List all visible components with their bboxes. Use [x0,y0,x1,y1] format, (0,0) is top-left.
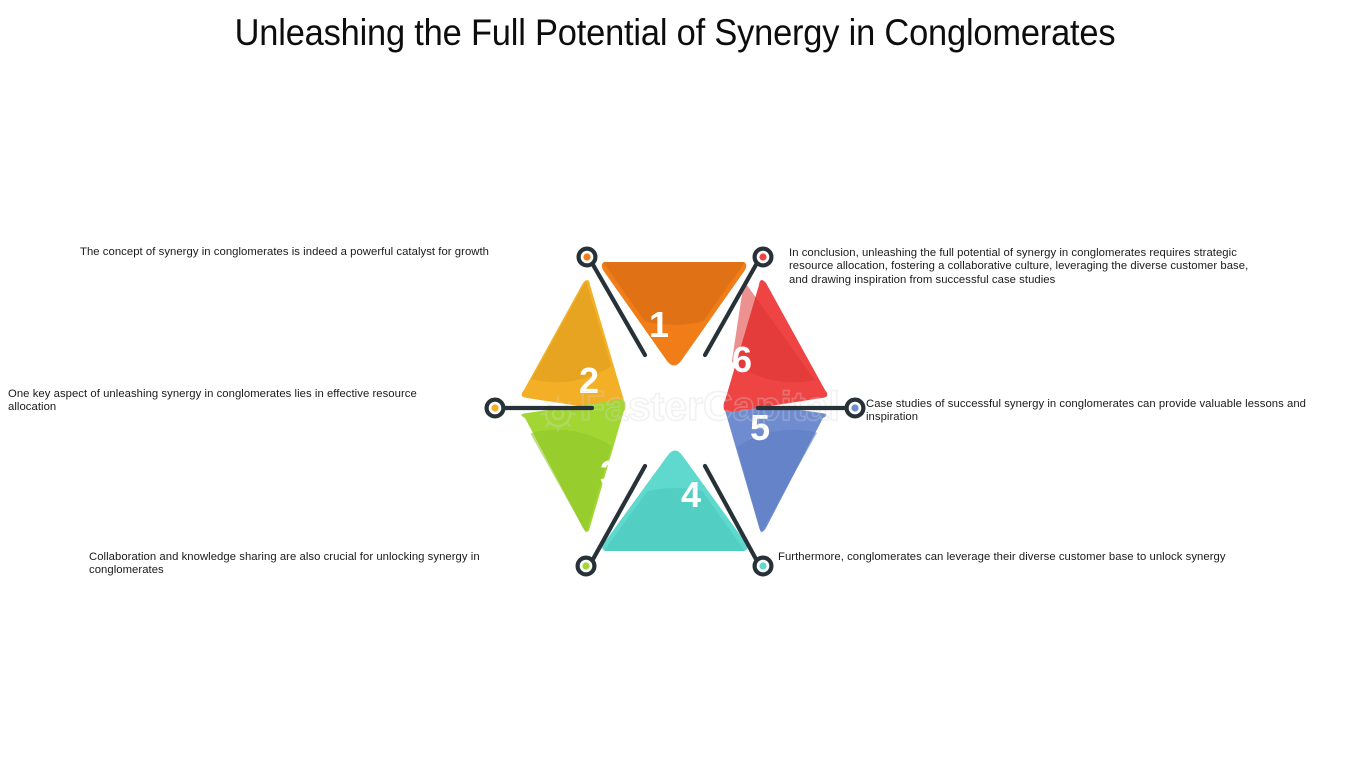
step-label-4: Furthermore, conglomerates can leverage … [778,551,1228,564]
step-label-3: Collaboration and knowledge sharing are … [89,551,549,578]
step-label-6: In conclusion, unleashing the full poten… [789,247,1259,287]
step-label-1: The concept of synergy in conglomerates … [80,246,500,259]
step-number-1: 1 [649,304,669,345]
step-label-5: Case studies of successful synergy in co… [866,398,1346,425]
step-number-3: 3 [600,453,620,494]
synergy-hexagon-diagram: 1 2 3 4 5 6 [0,0,1350,759]
marker-6[interactable] [755,249,772,266]
step-label-2: One key aspect of unleashing synergy in … [8,388,453,415]
step-number-6: 6 [732,339,752,380]
marker-5[interactable] [847,400,864,417]
marker-4[interactable] [755,558,772,575]
marker-2[interactable] [487,400,504,417]
marker-3[interactable] [578,558,595,575]
marker-1[interactable] [579,249,596,266]
step-number-4: 4 [681,474,701,515]
